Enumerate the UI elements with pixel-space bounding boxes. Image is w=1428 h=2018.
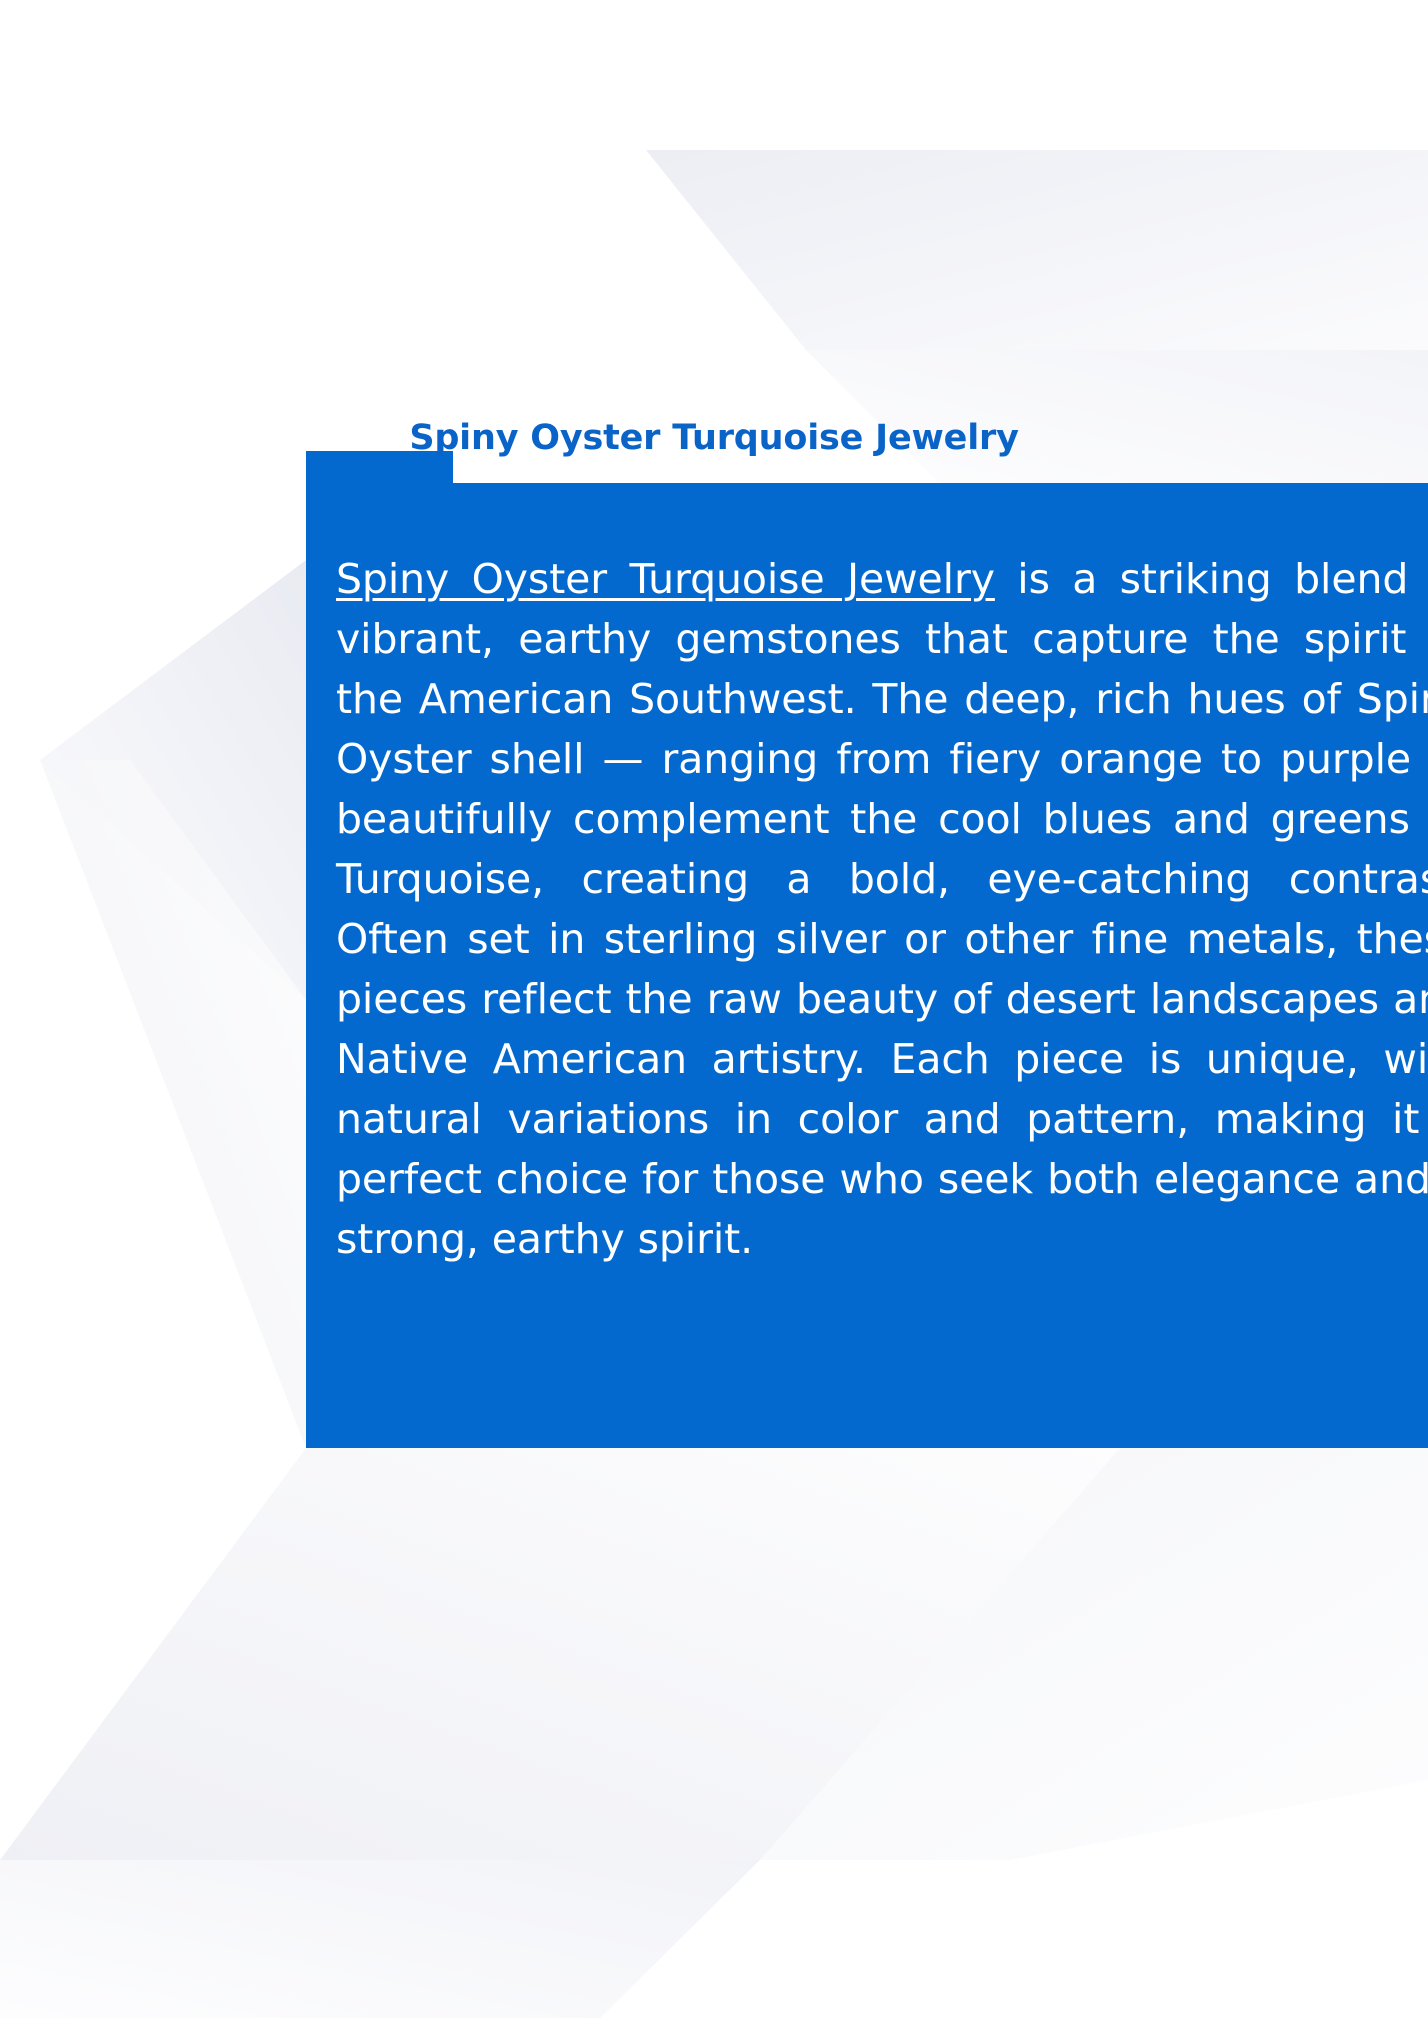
- article-paragraph: Spiny Oyster Turquoise Jewelry is a stri…: [306, 549, 1428, 1269]
- page-root: Spiny Oyster Turquoise Jewelry Spiny Oys…: [0, 0, 1428, 2018]
- article-body-text: is a striking blend of vibrant, earthy g…: [336, 555, 1428, 1263]
- article-keyword-link[interactable]: Spiny Oyster Turquoise Jewelry: [336, 555, 995, 603]
- page-title: Spiny Oyster Turquoise Jewelry: [0, 415, 1428, 461]
- content-card: Spiny Oyster Turquoise Jewelry is a stri…: [306, 451, 1428, 1448]
- content-card-body: Spiny Oyster Turquoise Jewelry is a stri…: [306, 451, 1428, 1269]
